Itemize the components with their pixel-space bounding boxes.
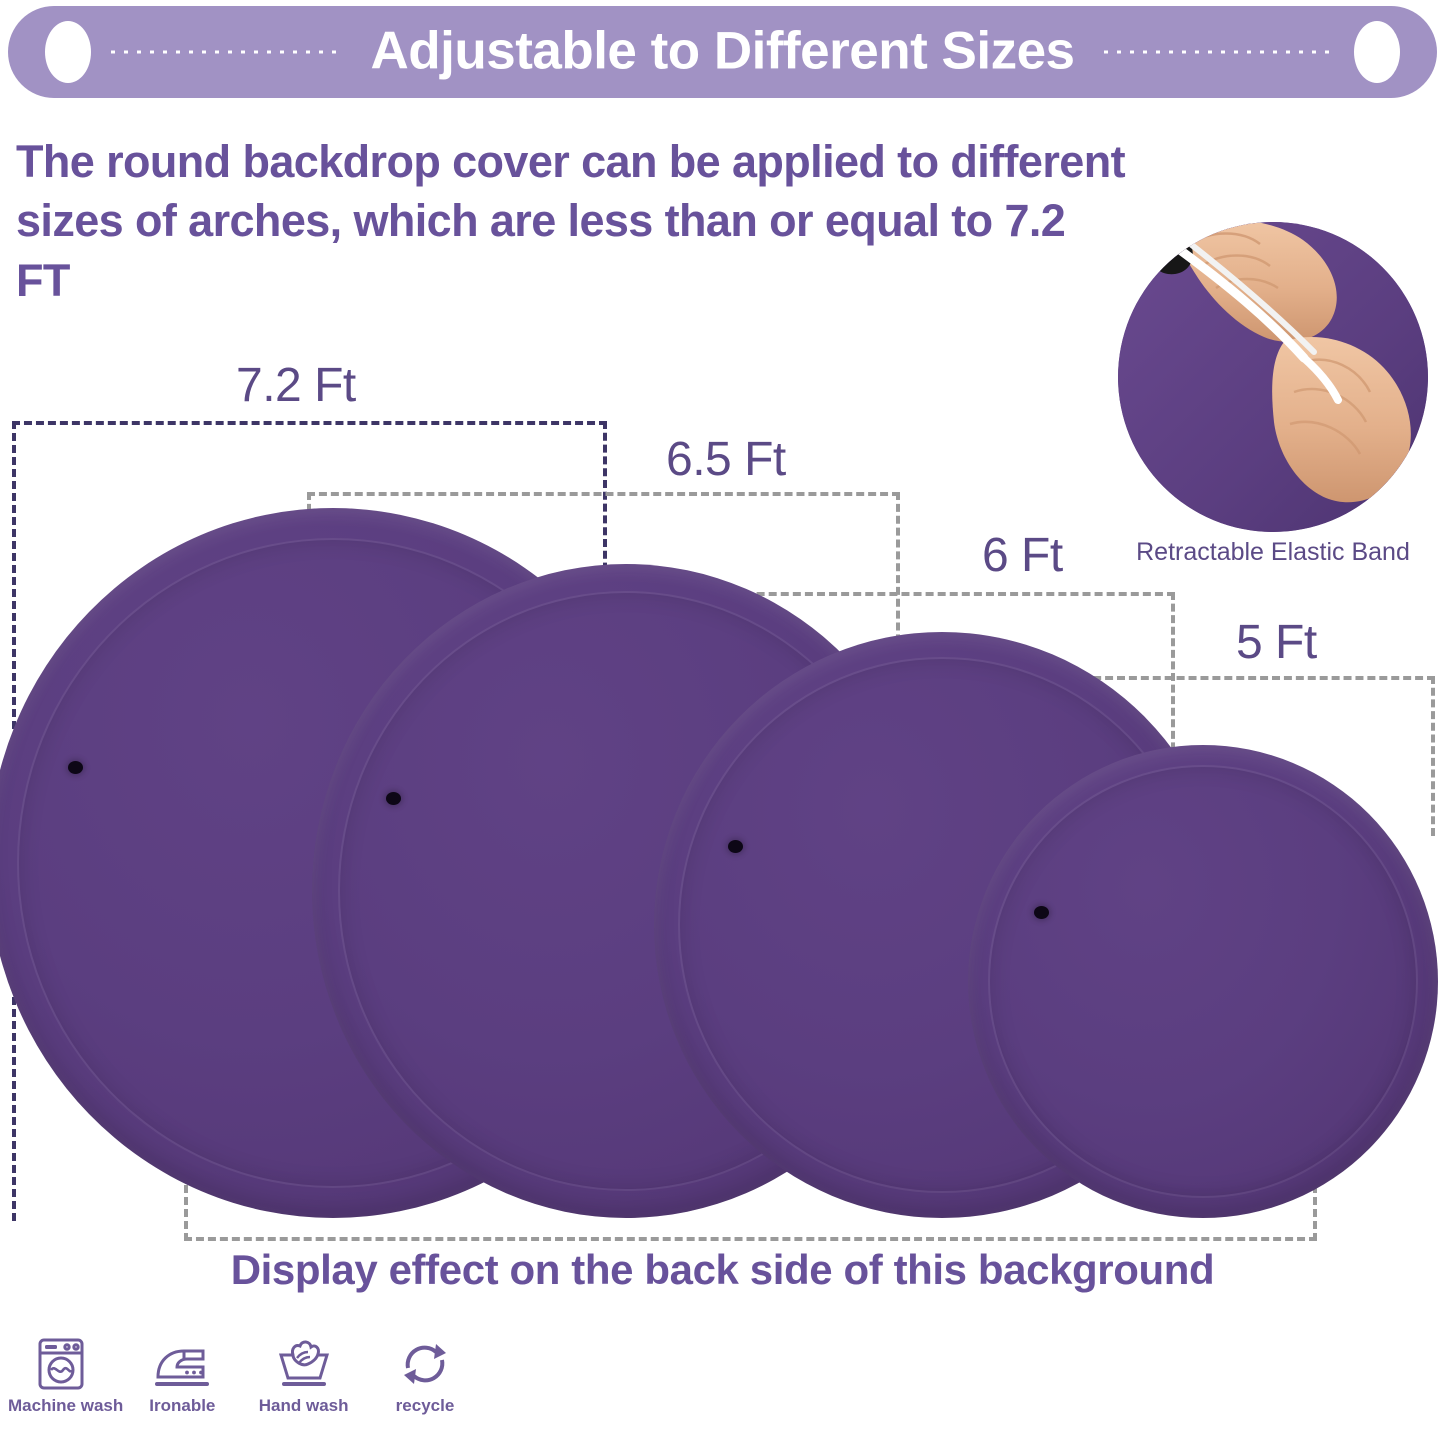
washing-machine-icon	[8, 1336, 114, 1392]
bottom-caption: Display effect on the back side of this …	[0, 1246, 1445, 1294]
grommet-icon-6ft	[728, 840, 743, 853]
grommet-icon-7-2ft	[68, 761, 83, 774]
disc-stage	[0, 0, 1445, 1438]
care-item-recycle: recycle	[372, 1336, 478, 1416]
care-label-machine-wash: Machine wash	[8, 1396, 114, 1416]
grommet-icon-6-5ft	[386, 792, 401, 805]
care-label-ironable: Ironable	[129, 1396, 235, 1416]
recycle-icon	[372, 1336, 478, 1392]
iron-icon	[129, 1336, 235, 1392]
care-item-machine-wash: Machine wash	[8, 1336, 114, 1416]
hand-wash-icon	[251, 1336, 357, 1392]
care-item-ironable: Ironable	[129, 1336, 235, 1416]
care-instructions-row: Machine wash Ironable Hand wash	[8, 1336, 478, 1416]
disc-hem-5ft	[968, 745, 1438, 1218]
grommet-icon-5ft	[1034, 906, 1049, 919]
care-label-recycle: recycle	[372, 1396, 478, 1416]
care-label-hand-wash: Hand wash	[251, 1396, 357, 1416]
care-item-hand-wash: Hand wash	[251, 1336, 357, 1416]
disc-5ft	[968, 745, 1438, 1218]
